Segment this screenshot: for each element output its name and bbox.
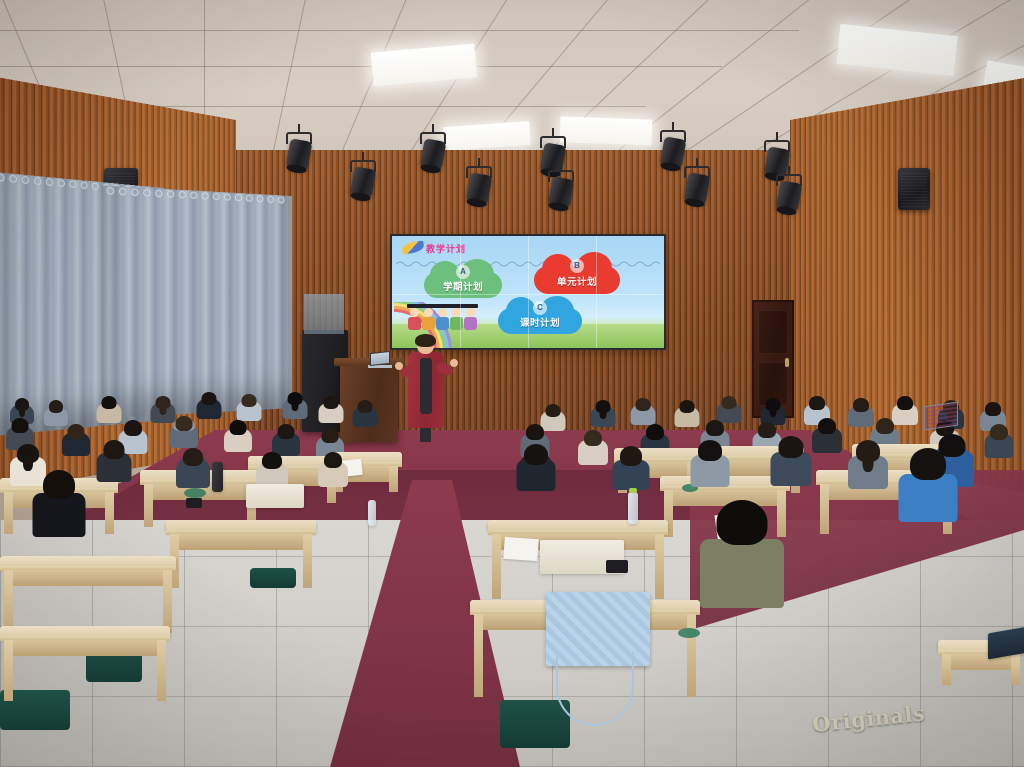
desk-leg-right (687, 614, 696, 697)
person-head (910, 448, 946, 480)
desk-leg-left (820, 484, 829, 534)
graduate-gown (408, 317, 421, 330)
desk-apron (6, 640, 164, 656)
desk-apron (172, 534, 310, 550)
person-head (545, 404, 560, 417)
presenter (404, 336, 448, 442)
smartphone (606, 560, 628, 573)
desk-leg-left (474, 614, 483, 697)
person-torso (700, 539, 784, 608)
audience-member (96, 440, 131, 488)
curtain-center (102, 186, 292, 419)
audience-member (690, 440, 729, 493)
person-ponytail (19, 405, 25, 417)
slide-item-c-badge: C (533, 301, 547, 315)
person-head (12, 418, 29, 433)
person-ponytail (769, 405, 776, 417)
audience-member-foreground (32, 470, 85, 543)
smartphone (186, 498, 202, 508)
audience-member-foreground (700, 500, 784, 614)
person-head (721, 396, 736, 409)
stage-spotlight (660, 122, 686, 170)
desk-leg-right (655, 534, 664, 599)
blue-tote-bag (546, 592, 650, 666)
presenter-inner-garment (420, 358, 432, 414)
stage-spotlight (286, 124, 312, 172)
person-head (183, 448, 203, 466)
presenter-hair (415, 334, 436, 347)
person-head (897, 396, 913, 410)
audience-member (224, 420, 252, 458)
graduate-face (438, 308, 447, 317)
spotlight-housing (684, 172, 711, 205)
cartoon-graduate (450, 304, 463, 330)
person-head (646, 424, 664, 440)
person-head (324, 452, 342, 468)
person-head (990, 424, 1008, 440)
desk-leg-right (163, 570, 172, 633)
audience-member (578, 430, 608, 471)
person-head (635, 398, 650, 411)
desk-apron (6, 570, 170, 586)
spotlight-housing (350, 166, 377, 199)
desk-leg-right (105, 492, 114, 534)
person-torso (898, 474, 957, 522)
desk-apron (944, 654, 1018, 670)
desk-sticker (678, 628, 700, 638)
person-head (323, 396, 338, 409)
cartoon-graduate (422, 304, 435, 330)
slide-item-a-label: 学期计划 (424, 279, 502, 293)
cartoon-graduate (436, 304, 449, 330)
slide-item-b: B 单元计划 (534, 266, 620, 294)
laptop (924, 402, 958, 431)
person-ponytail (23, 454, 33, 471)
person-head (176, 416, 193, 431)
audience-member (848, 440, 888, 495)
graduate-face (410, 308, 419, 317)
wall-speaker-right (898, 168, 930, 210)
video-wall-bezel-v (596, 236, 597, 348)
slide-item-b-badge: B (570, 259, 584, 273)
person-torso (32, 493, 85, 537)
lecture-hall-scene: 教学计划 A 学期计划 B 单元计划 C 课时计划 (0, 0, 1024, 767)
student-desk (0, 556, 176, 626)
stage-spotlight (350, 152, 376, 200)
presenter-right-hand (450, 359, 458, 367)
person-head (524, 444, 548, 465)
led-video-wall: 教学计划 A 学期计划 B 单元计划 C 课时计划 (392, 236, 664, 348)
handout-paper (503, 537, 538, 561)
audience-member (812, 418, 842, 459)
stage-spotlight (776, 166, 802, 214)
spotlight-housing (420, 138, 447, 171)
stage-spotlight (466, 158, 492, 206)
spotlight-housing (286, 138, 313, 171)
cartoon-graduate (464, 304, 477, 330)
person-head (49, 400, 63, 413)
person-head (101, 396, 116, 409)
slide-item-c-label: 课时计划 (498, 315, 582, 329)
person-ponytail (159, 403, 166, 415)
person-head (526, 424, 544, 440)
water-bottle (628, 492, 638, 524)
person-head (853, 398, 869, 412)
person-head (876, 418, 894, 434)
stage-spotlight (420, 124, 446, 172)
audience-member (516, 444, 555, 497)
person-head (68, 424, 85, 439)
audience-member (770, 436, 811, 492)
slide-item-b-label: 单元计划 (534, 274, 620, 288)
audience-member (590, 400, 615, 433)
person-head (103, 440, 124, 459)
podium-laptop[interactable] (370, 352, 392, 368)
person-head (584, 430, 602, 446)
person-head (778, 436, 803, 458)
student-desk (0, 626, 170, 696)
audience-member (282, 392, 307, 425)
graduate-gown (436, 317, 449, 330)
graduate-gown (464, 317, 477, 330)
desk-leg-left (942, 654, 951, 685)
canvas-tote-bag (246, 484, 304, 508)
person-head (717, 500, 768, 545)
graduate-face (424, 308, 433, 317)
person-ponytail (863, 452, 874, 472)
person-head (201, 392, 216, 405)
ceiling-panel-light (560, 116, 653, 145)
person-head (322, 428, 339, 443)
door-panel-upper (758, 310, 788, 354)
desk-leg-right (157, 640, 166, 701)
desk-sticker (184, 488, 206, 498)
video-wall-bezel-h (392, 294, 664, 295)
person-head (241, 394, 256, 407)
person-head (230, 420, 247, 435)
chair-seat (500, 700, 570, 748)
slide-item-a-badge: A (456, 265, 470, 279)
audience-member (984, 424, 1013, 464)
desk-leg-left (4, 640, 13, 701)
slide-item-c: C 课时计划 (498, 308, 582, 334)
person-head (357, 400, 372, 413)
person-head (278, 424, 295, 439)
person-head (124, 420, 142, 436)
presenter-left-hand (395, 362, 403, 370)
stage-spotlight (548, 162, 574, 210)
audience-member (318, 396, 343, 429)
student-desk (166, 520, 316, 590)
door-handle[interactable] (785, 358, 789, 367)
desk-leg-left (144, 484, 153, 527)
graduate-gown (450, 317, 463, 330)
presenter-legs (420, 426, 431, 442)
video-wall-bezel-v (528, 236, 529, 348)
desk-leg-right (1011, 654, 1020, 685)
person-head (706, 420, 724, 436)
person-head (985, 402, 1001, 416)
audience-member (352, 400, 377, 433)
audience-member (318, 452, 348, 493)
spotlight-housing (660, 136, 687, 169)
person-ponytail (291, 399, 298, 411)
desk-leg-left (492, 534, 501, 599)
audience-member (196, 392, 221, 425)
person-head (679, 400, 694, 413)
desk-leg-left (4, 570, 13, 633)
graduate-face (466, 308, 475, 317)
desk-leg-left (4, 492, 13, 534)
audience-member (62, 424, 90, 462)
person-head (818, 418, 836, 434)
person-head (809, 396, 825, 410)
cartoon-graduate (408, 304, 421, 330)
person-head (43, 470, 75, 499)
person-ponytail (599, 407, 606, 419)
person-head (262, 452, 282, 469)
person-head (620, 446, 642, 466)
desk-leg-right (389, 466, 398, 492)
audience-member (674, 400, 699, 433)
spotlight-housing (466, 172, 493, 205)
water-bottle (368, 500, 376, 526)
audience-member-foreground (898, 448, 957, 528)
stage-spotlight (684, 158, 710, 206)
desk-leg-right (303, 534, 312, 588)
graduate-gown (422, 317, 435, 330)
person-head (698, 440, 722, 461)
spotlight-housing (548, 176, 575, 209)
spotlight-housing (776, 180, 803, 213)
thermos-bottle (212, 462, 223, 492)
